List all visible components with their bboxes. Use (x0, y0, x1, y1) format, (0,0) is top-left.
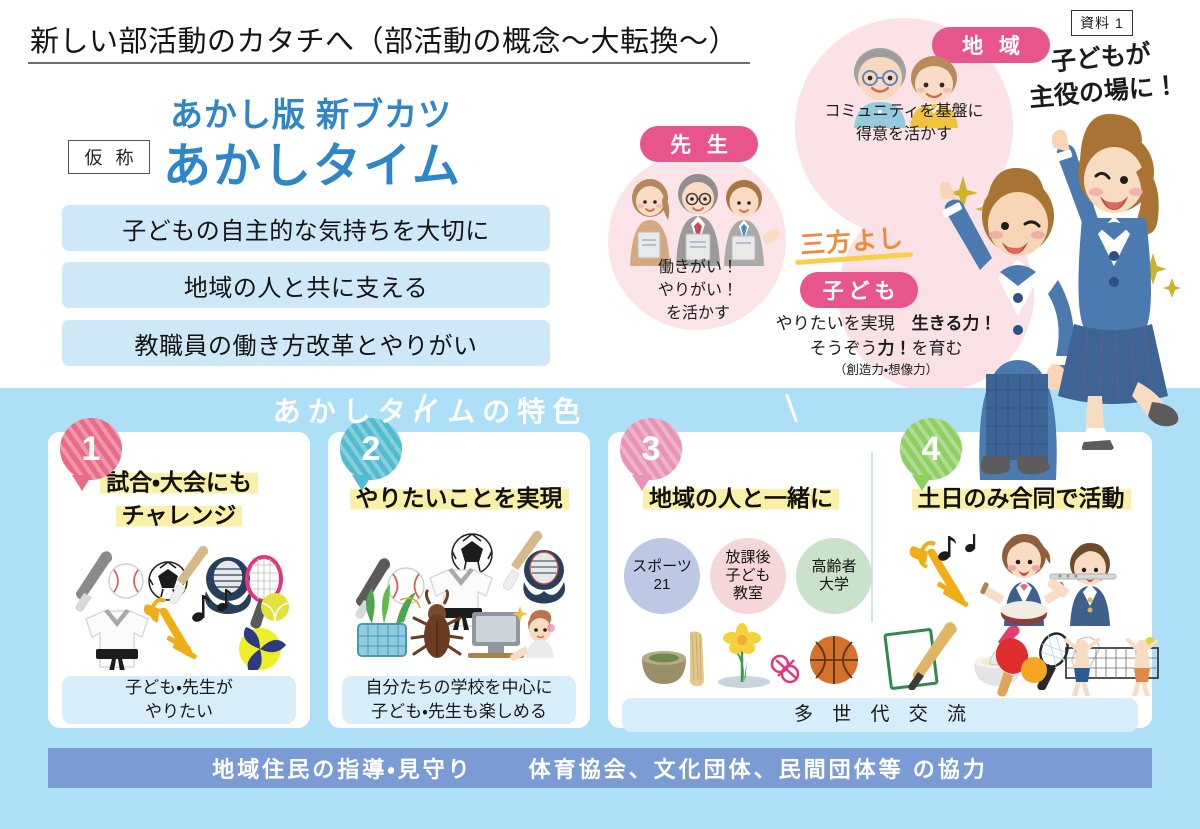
org-circle-senior-university: 高齢者 大学 (796, 538, 872, 614)
bottom-bar-left-text: 地域住民の指導・見守り (212, 752, 472, 784)
title-divider (28, 62, 750, 64)
principle-item-2: 地域の人と共に支える (62, 262, 550, 308)
features-heading: あかしタイムの特色 (0, 390, 860, 430)
feature-2-footer-line1: 自分たちの学校を中心に (366, 676, 553, 700)
kendo-icon (170, 546, 251, 614)
feature-1-footer-line2: やりたい (125, 700, 233, 724)
principle-item-3: 教職員の働き方改革とやりがい (62, 320, 550, 366)
badge-child: 子ども (800, 272, 918, 308)
bottom-bar-right-text: 体育協会、文化団体、民間団体等 の協力 (529, 752, 988, 784)
tea-ceremony-icon (642, 632, 704, 687)
org-circle-senior-line2: 大学 (811, 576, 856, 594)
beach-volleyball-icon (1066, 637, 1158, 696)
org-circle-sports21-line2: 21 (632, 576, 692, 594)
org-circle-afterschool-line2: 子ども (725, 567, 770, 585)
table-tennis-icon (991, 636, 1047, 697)
three-way-benefit-annotation: 三方よし (799, 218, 905, 261)
feature-2-footer: 自分たちの学校を中心に 子ども・先生も楽しめる (342, 676, 576, 724)
feature-number-4: 4 (922, 430, 941, 469)
teacher-text-line1: 働きがい！ (600, 256, 796, 279)
page-title: 新しい部活動のカタチへ（部活動の概念〜大転換〜） (30, 18, 750, 60)
document-tag: 資料 1 (1071, 10, 1133, 36)
feature-number-2: 2 (362, 430, 381, 469)
org-circle-senior-line1: 高齢者 (811, 558, 856, 576)
feature-4-band-icons (908, 534, 1138, 626)
community-text-line1: コミュニティを基盤に (786, 100, 1022, 123)
volleyball-icon (239, 627, 286, 670)
feature-1-icon-row (72, 545, 290, 670)
calligraphy-icon (885, 622, 957, 690)
feature-title-1-line2: チャレンジ (116, 502, 243, 528)
org-circle-sports21-line1: スポーツ (632, 558, 692, 576)
org-circle-sports21: スポーツ 21 (624, 538, 700, 614)
basketball-icon (810, 636, 858, 684)
org-circle-afterschool-line3: 教室 (725, 585, 770, 603)
baseball-icon (109, 564, 143, 598)
flute-player-icon (1048, 543, 1116, 626)
feature-title-1-line1: 試合・大会にも (100, 469, 258, 495)
principle-item-1: 子どもの自主的な気持ちを大切に (62, 205, 550, 251)
trumpet-icon (144, 589, 232, 660)
teacher-text-line2: やりがい！ (600, 279, 796, 302)
feature-title-3-line1: 地域の人と一緒に (643, 485, 839, 511)
kendo-icon (503, 531, 565, 604)
student-girl-illustration (1040, 110, 1190, 450)
computer-icon (468, 606, 555, 661)
badge-teacher: 先 生 (640, 126, 758, 162)
feature-2-icon-row (348, 528, 572, 668)
feature-1-footer: 子ども・先生が やりたい (62, 676, 296, 724)
community-text: コミュニティを基盤に 得意を活かす (786, 100, 1022, 146)
feature-3-4-shared-footer: 多 世 代 交 流 (622, 698, 1138, 732)
soccer-ball-icon (452, 534, 492, 574)
feature-title-4-line1: 土日のみ合同で活動 (912, 485, 1131, 511)
feature-4-sport-icons (990, 636, 1170, 698)
scissors-icon (772, 656, 798, 682)
trumpet-icon (910, 534, 976, 608)
feature-1-footer-line1: 子ども・先生が (125, 676, 233, 700)
judo-gi-icon (86, 609, 148, 670)
feature-number-3: 3 (642, 430, 661, 469)
tennis-racket-icon (247, 557, 289, 629)
feature-2-footer-line2: 子ども・先生も楽しめる (366, 700, 553, 724)
org-circle-afterschool-line1: 放課後 (725, 549, 770, 567)
poster-root: 資料 1 新しい部活動のカタチへ（部活動の概念〜大転換〜） あかし版 新ブカツ … (0, 0, 1200, 829)
baseball-bat-icon (75, 551, 112, 611)
feature-title-2-line1: やりたいことを実現 (350, 485, 569, 511)
feature-number-1: 1 (82, 430, 101, 469)
brand-title: あかしタイム (163, 126, 462, 196)
bottom-bar: 地域住民の指導・見守り 体育協会、文化団体、民間団体等 の協力 (48, 748, 1152, 788)
flower-arrangement-icon (718, 623, 798, 688)
provisional-name-label: 仮 称 (68, 140, 150, 174)
community-text-line2: 得意を活かす (786, 123, 1022, 146)
teachers-icon (614, 164, 782, 266)
feature-card-divider (871, 452, 873, 622)
org-circle-afterschool: 放課後 子ども 教室 (710, 538, 786, 614)
